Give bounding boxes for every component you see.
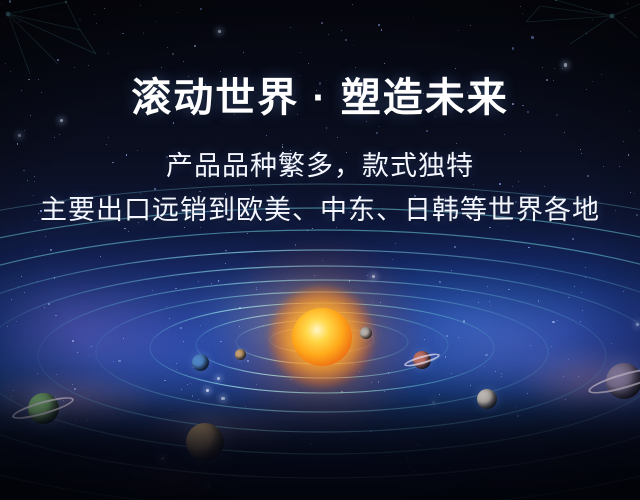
red-ringed-planet-ring	[403, 351, 441, 369]
horizon-shadow	[0, 390, 640, 500]
subtitle-line-2: 主要出口远销到欧美、中东、日韩等世界各地	[0, 194, 640, 226]
earth	[192, 354, 209, 371]
page-title: 滚动世界 · 塑造未来	[0, 76, 640, 120]
space-banner: 滚动世界 · 塑造未来 产品品种繁多，款式独特 主要出口远销到欧美、中东、日韩等…	[0, 0, 640, 500]
small-tan-planet	[235, 349, 246, 360]
mercury-planet	[360, 327, 372, 339]
red-ringed-planet	[413, 351, 431, 369]
subtitle-line-1: 产品品种繁多，款式独特	[0, 150, 640, 182]
